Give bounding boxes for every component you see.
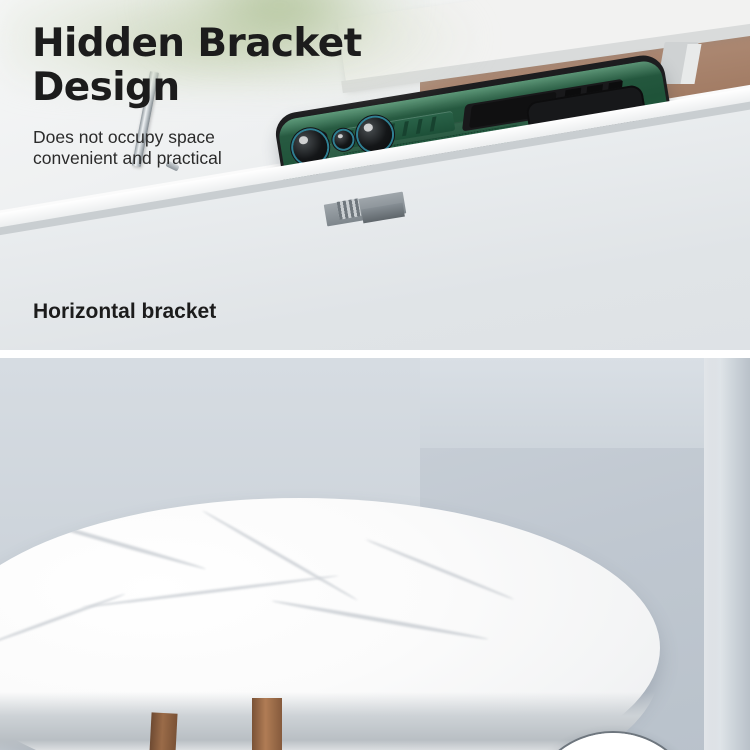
- page-subtitle: Does not occupy space convenient and pra…: [33, 127, 222, 169]
- desk-drawer-handle: [337, 198, 362, 219]
- curtain-highlight: [704, 358, 720, 750]
- panel-divider: [0, 350, 750, 358]
- panel-vertical-bracket: Vertical bracket 90°: [0, 358, 750, 750]
- page-subtitle-line1: Does not occupy space: [33, 127, 222, 148]
- page-title-line1: Hidden Bracket: [32, 22, 362, 66]
- caption-horizontal-bracket: Horizontal bracket: [33, 300, 216, 324]
- panel-horizontal-bracket: ELEGANT PERSONALITY NOT TRIVIAL: [0, 0, 750, 350]
- page-title: Hidden Bracket Design: [32, 22, 362, 110]
- page-subtitle-line2: convenient and practical: [33, 148, 222, 169]
- angle-detail-inset: 90°: [525, 731, 701, 750]
- product-infographic: ELEGANT PERSONALITY NOT TRIVIAL: [0, 0, 750, 750]
- table-leg-wood-center: [252, 698, 282, 750]
- angle-arrow-arc: [527, 733, 699, 750]
- table-leg-wood-left: [148, 712, 177, 750]
- page-title-line2: Design: [32, 66, 362, 110]
